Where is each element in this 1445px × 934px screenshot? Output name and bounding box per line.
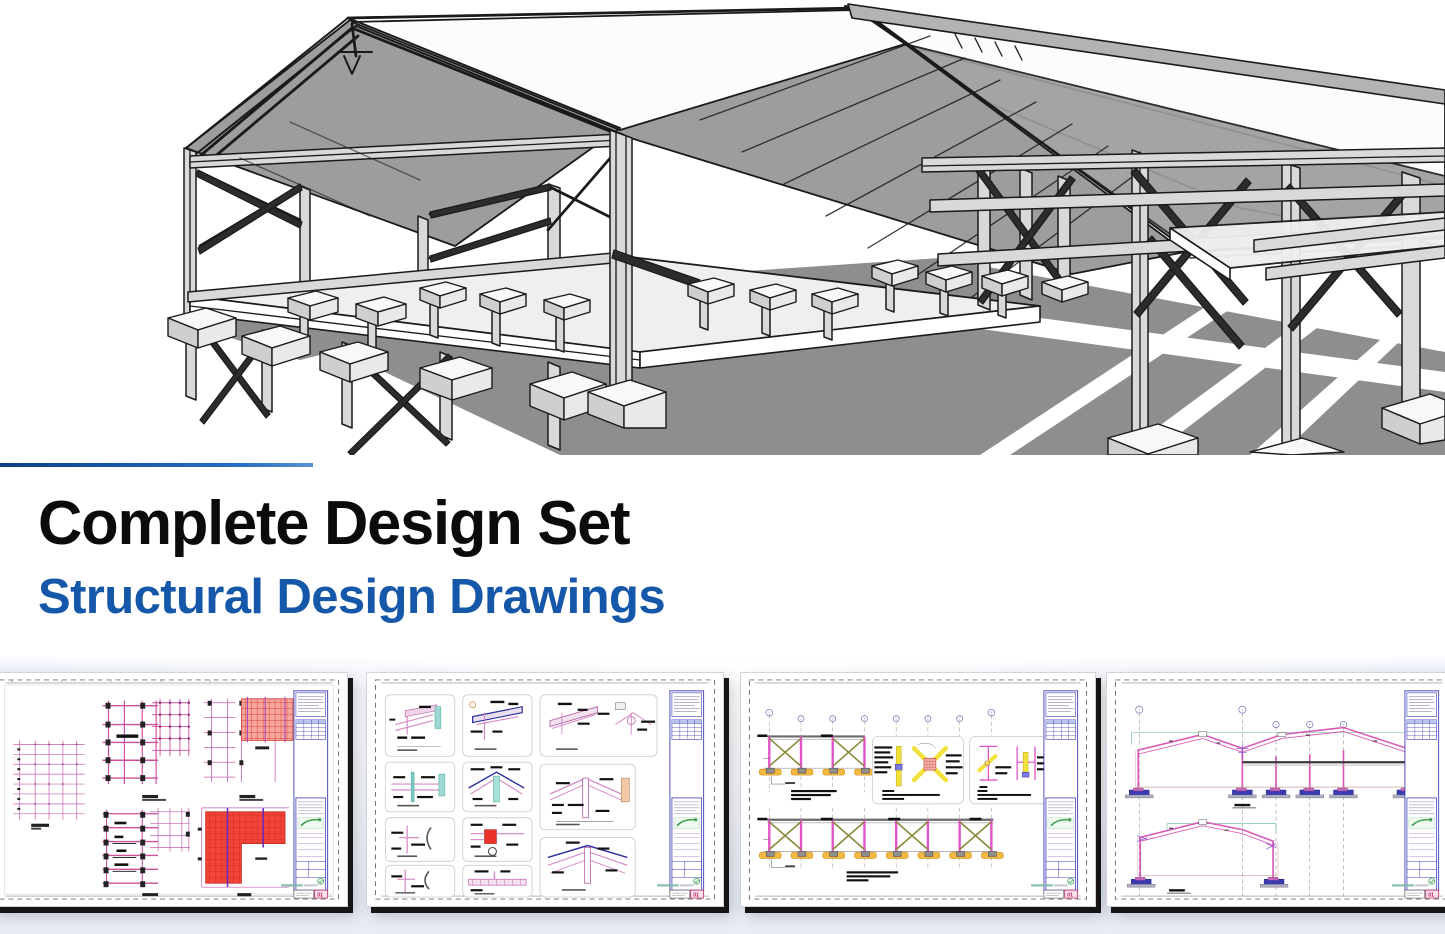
title-section: Complete Design Set Structural Design Dr… (0, 455, 1445, 655)
accent-rule (0, 463, 313, 467)
design-set-promo-page: .ol{fill:none;stroke:#1a1a1a;stroke-widt… (0, 0, 1445, 934)
sheet-3-drawing: 123 456 78 (741, 673, 1095, 906)
sheet-number-2: 01 (693, 892, 699, 898)
sheet-1-drawing: ABC DEF (0, 673, 347, 906)
sheet-number-1: 01 (317, 892, 323, 898)
sheet-4-drawing: 123 456 (1107, 673, 1445, 906)
drawing-sheet-strip: ABC DEF (0, 655, 1445, 934)
sheet-thumbnail-foundation-plans[interactable]: ABC DEF (0, 672, 348, 907)
page-subtitle: Structural Design Drawings (38, 573, 665, 622)
sheet-2-drawing: 01 (367, 673, 723, 906)
sheet-thumbnail-connection-details[interactable]: 01 (366, 672, 724, 907)
page-title: Complete Design Set (38, 493, 629, 555)
portal-frame-illustration: .ol{fill:none;stroke:#1a1a1a;stroke-widt… (0, 0, 1445, 455)
sheet-thumbnail-portal-frame-sections[interactable]: 123 456 (1106, 672, 1445, 907)
hero-3d-render: .ol{fill:none;stroke:#1a1a1a;stroke-widt… (0, 0, 1445, 455)
sheet-thumbnail-bracing-elevations[interactable]: 123 456 78 (740, 672, 1096, 907)
sheet-number-3: 01 (1067, 892, 1073, 898)
sheet-number-4: 01 (1428, 892, 1434, 898)
